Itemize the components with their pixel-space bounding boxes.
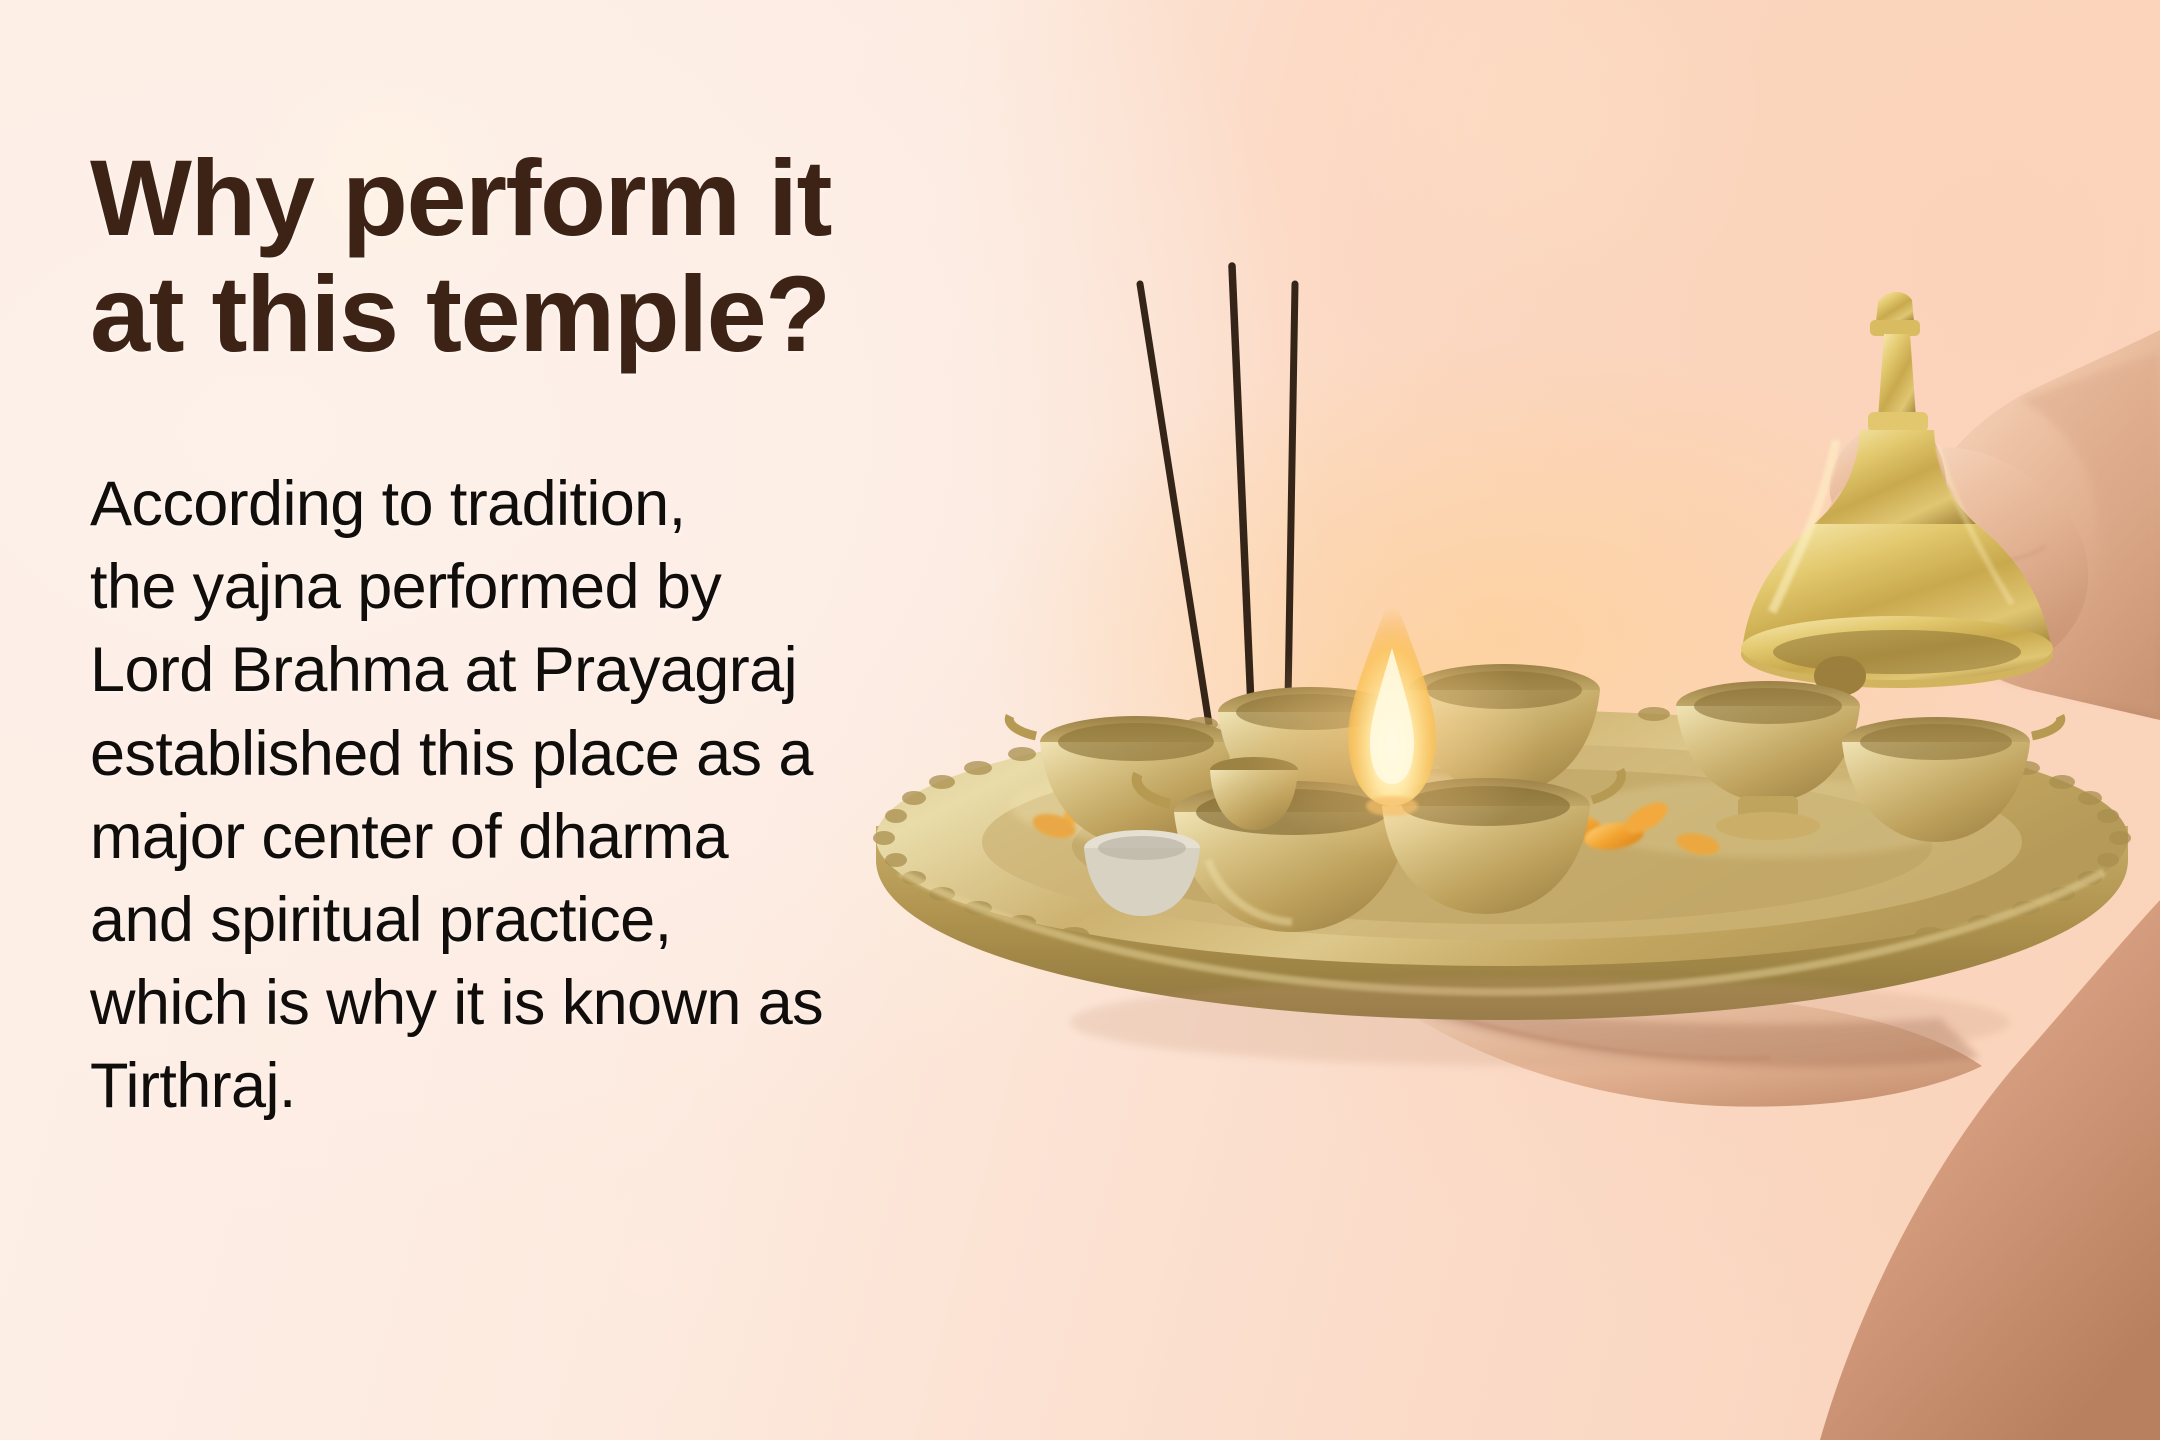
- diya-bowl-right-pedestal: [1676, 681, 1860, 840]
- small-steel-cup: [1084, 830, 1200, 916]
- body-line-4: established this place as a: [90, 713, 1090, 796]
- body-line-7: which is why it is known as: [90, 962, 1090, 1045]
- body-line-8: Tirthraj.: [90, 1045, 1090, 1128]
- ambient-glow: [980, 340, 2020, 940]
- diya-bowl-back-right: [1408, 664, 1600, 794]
- diya-bowl-front-right: [1382, 770, 1621, 914]
- diya-bowl-back-center: [1218, 687, 1402, 810]
- marigold-petals: [1030, 786, 1722, 869]
- brass-bell: [1741, 292, 2053, 696]
- page-title: Why perform it at this temple?: [90, 140, 1090, 371]
- body-line-6: and spiritual practice,: [90, 879, 1090, 962]
- body-line-5: major center of dharma: [90, 796, 1090, 879]
- headline-line-1: Why perform it: [90, 140, 1090, 256]
- hand-holding-bell: [1798, 330, 2160, 1440]
- diya-bowl-far-right: [1842, 716, 2061, 842]
- body-paragraph: According to tradition, the yajna perfor…: [90, 463, 1090, 1128]
- body-line-3: Lord Brahma at Prayagraj: [90, 629, 1090, 712]
- body-line-2: the yajna performed by: [90, 546, 1090, 629]
- diya-bowl-front-center: [1137, 774, 1410, 932]
- body-line-1: According to tradition,: [90, 463, 1090, 546]
- lit-diya-flame: [1242, 592, 1542, 860]
- hand-holding-thali: [1400, 900, 2160, 1440]
- brass-diya-bowls: [1009, 664, 2061, 932]
- plate-cast-shadow: [1070, 978, 2010, 1066]
- headline-line-2: at this temple?: [90, 256, 1090, 372]
- incense-sticks: [1140, 266, 1295, 826]
- incense-holder-cup: [1210, 757, 1298, 830]
- text-column: Why perform it at this temple? According…: [90, 140, 1090, 1128]
- slide-root: Why perform it at this temple? According…: [0, 0, 2160, 1440]
